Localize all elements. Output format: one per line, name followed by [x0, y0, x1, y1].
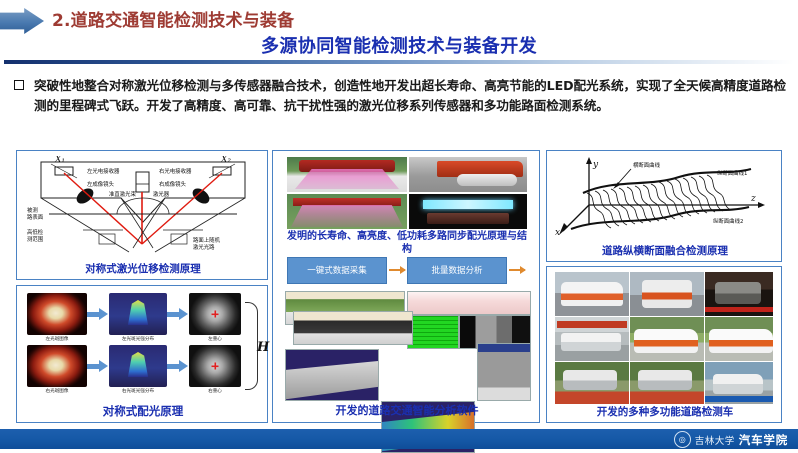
footer-university: 吉林大学: [695, 433, 735, 447]
label-right-spot: 右光斑图像: [27, 390, 87, 395]
led-night-photo: [409, 194, 527, 229]
vehicle-photo: [705, 317, 773, 361]
body-bullet: 突破性地整合对称激光位移检测与多传感器融合技术，创造性地开发出超长寿命、高亮节能…: [14, 76, 786, 117]
label-collimated: 准直激光束: [109, 190, 137, 198]
led-photo-grid: [287, 157, 527, 229]
label-left-receiver: 左光电接收器: [87, 167, 120, 175]
label-h-symbol: H: [257, 340, 269, 355]
label-random2: 激光光路: [193, 243, 215, 251]
vehicle-photo: [555, 272, 629, 316]
caption-led-principle: 发明的长寿命、高亮度、低功耗多路同步配光原理与结构: [283, 230, 531, 256]
led-render-column: [287, 157, 407, 229]
label-left-dist: 左光斑光强分布: [109, 338, 167, 343]
arrow-right-icon: [87, 308, 109, 320]
body-paragraph: 突破性地整合对称激光位移检测与多传感器融合技术，创造性地开发出超长寿命、高亮节能…: [34, 76, 786, 117]
label-long-section-1: 纵断面曲线1: [717, 169, 747, 177]
panel-laser-displacement: 左光电接收器 右光电接收器 左成像镜头 右成像镜头 激光器 准直激光束 被测 路…: [16, 150, 268, 280]
slide-header: 2.道路交通智能检测技术与装备 多源协同智能检测技术与装备开发: [0, 0, 798, 62]
footer-college: 汽车学院: [739, 432, 788, 448]
slide-root: 2.道路交通智能检测技术与装备 多源协同智能检测技术与装备开发 突破性地整合对称…: [0, 0, 798, 449]
arrow-right-icon: [167, 360, 189, 372]
flow-arrow-icon: [509, 269, 525, 271]
vehicle-photo: [705, 362, 773, 404]
software-screenshot-grid: [283, 291, 531, 403]
caption-detection-vehicles: 开发的多种多功能道路检测车: [547, 406, 783, 419]
panel-led-and-software: 发明的长寿命、高亮度、低功耗多路同步配光原理与结构 一键式数据采集 批量数据分析…: [272, 150, 540, 423]
footer-brand: ◎ 吉林大学 汽车学院: [674, 431, 788, 448]
caption-analysis-software: 开发的道路交通智能分析软件: [283, 404, 531, 418]
label-laser: 激光器: [153, 190, 170, 198]
light-distribution-grid: 左光斑图像 左光斑光强分布 左重心 右光斑图像 右光斑光强分布 右重心: [27, 293, 241, 397]
vehicle-photo: [555, 317, 629, 361]
label-left-spot: 左光斑图像: [27, 338, 87, 343]
label-right-centroid: 右重心: [189, 390, 241, 395]
arrow-right-icon: [87, 360, 109, 372]
software-window-c: [407, 291, 531, 315]
label-right-lens: 右成像镜头: [159, 180, 187, 188]
vehicle-photo: [630, 362, 704, 404]
vehicle-photo: [555, 362, 629, 404]
vehicle-photo: [630, 272, 704, 316]
centroid-image-left: [189, 293, 241, 335]
led-vehicle-photo: [409, 157, 527, 192]
label-left-centroid: 左重心: [189, 338, 241, 343]
flow-step-collection: 一键式数据采集: [287, 257, 387, 284]
panel-detection-vehicles: 开发的多种多功能道路检测车: [546, 266, 782, 423]
label-measured2: 路表面: [27, 213, 44, 221]
header-divider: [4, 60, 794, 64]
flow-step-analysis: 批量数据分析: [407, 257, 507, 284]
label-cross-section: 横断面曲线: [633, 161, 661, 169]
label-axis-x2: X₂: [220, 156, 231, 165]
bullet-square-icon: [14, 80, 24, 90]
label-range2: 测范围: [27, 235, 43, 243]
arrow-right-icon: [167, 308, 189, 320]
page-title: 2.道路交通智能检测技术与装备: [52, 6, 294, 31]
laser-displacement-diagram: 左光电接收器 右光电接收器 左成像镜头 右成像镜头 激光器 准直激光束 被测 路…: [25, 156, 261, 259]
label-axis-z: z: [750, 194, 756, 204]
label-left-lens: 左成像镜头: [87, 180, 115, 188]
page-subtitle: 多源协同智能检测技术与装备开发: [0, 32, 798, 58]
label-axis-y: y: [592, 160, 599, 170]
led-render-bottom: [287, 194, 407, 229]
software-grid-view: [407, 315, 459, 349]
centroid-image-right: [189, 345, 241, 387]
laser-spot-image-right: [27, 345, 87, 387]
label-random: 路面上随机: [193, 236, 221, 244]
led-render-top: [287, 157, 407, 192]
chevron-right-icon: [0, 8, 44, 34]
profile-fusion-diagram: y z x: [553, 153, 777, 241]
led-photo-column: [409, 157, 527, 229]
vehicle-photo: [630, 317, 704, 361]
label-right-receiver: 右光电接收器: [159, 167, 192, 175]
label-measured: 被测: [27, 206, 38, 214]
slide-footer: ◎ 吉林大学 汽车学院: [0, 429, 798, 449]
panel-light-distribution: 左光斑图像 左光斑光强分布 左重心 右光斑图像 右光斑光强分布 右重心 H 对称…: [16, 285, 268, 423]
intensity-surface-left: [109, 293, 167, 335]
caption-light-distribution: 对称式配光原理: [17, 404, 269, 418]
caption-laser-displacement: 对称式激光位移检测原理: [17, 263, 269, 276]
software-video-view: [477, 343, 531, 401]
label-axis-x1: X₁: [54, 156, 65, 165]
intensity-surface-right: [109, 345, 167, 387]
flow-arrow-icon: [389, 269, 405, 271]
software-window-b: [293, 311, 413, 345]
label-right-dist: 右光斑光强分布: [109, 390, 167, 395]
software-3d-road-view: [285, 349, 379, 401]
label-axis-x: x: [555, 228, 560, 238]
caption-profile-fusion: 道路纵横断面融合检测原理: [547, 245, 783, 258]
vehicle-photo: [705, 272, 773, 316]
vehicle-photo-grid: [555, 272, 775, 404]
label-long-section-2: 纵断面曲线2: [713, 217, 743, 225]
panel-profile-fusion: y z x: [546, 150, 782, 262]
laser-spot-image-left: [27, 293, 87, 335]
university-emblem-icon: ◎: [674, 431, 691, 448]
label-range: 高低检: [27, 228, 44, 236]
data-flow-diagram: 一键式数据采集 批量数据分析: [287, 256, 527, 284]
